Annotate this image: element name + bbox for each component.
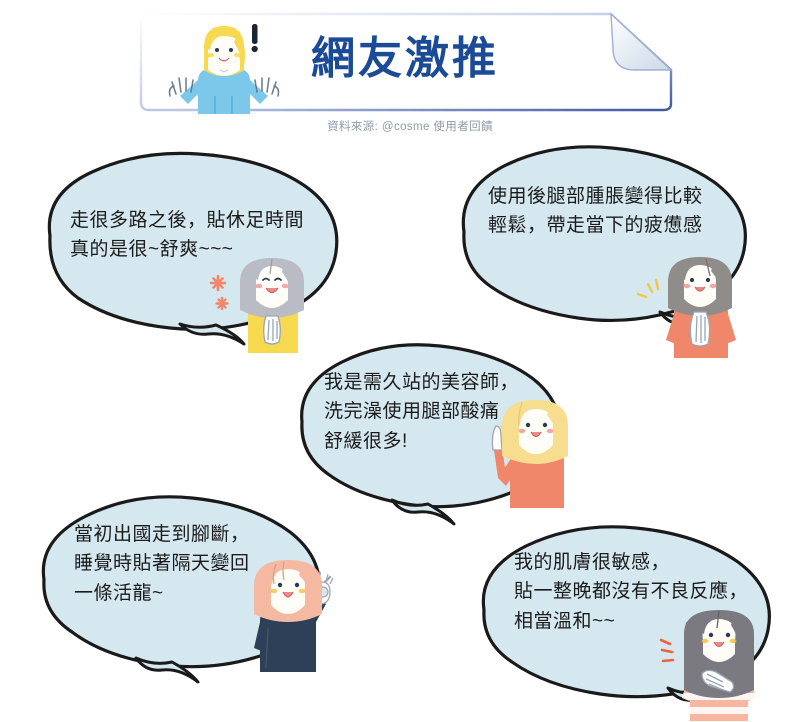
character-illustration-2 [660,248,740,358]
testimonial-infographic: 網友激推 資料來源: @cosme 使用者回饋 走很多路之後，貼休足時間 真的是… [0,0,800,722]
data-source-label: 資料來源: @cosme 使用者回饋 [240,118,580,134]
header-mascot-illustration [160,18,285,118]
testimonial-text-2: 使用後腿部腫脹變得比較 輕鬆，帶走當下的疲憊感 [488,182,703,241]
page-title: 網友激推 [295,22,515,86]
character-illustration-4 [244,552,334,672]
character-illustration-5 [676,602,762,722]
testimonial-text-4: 當初出國走到腳斷， 睡覺時貼著隔天變回 一條活龍~ [74,520,250,608]
exclamation-mark-icon [252,24,258,52]
character-illustration-3 [488,392,574,508]
